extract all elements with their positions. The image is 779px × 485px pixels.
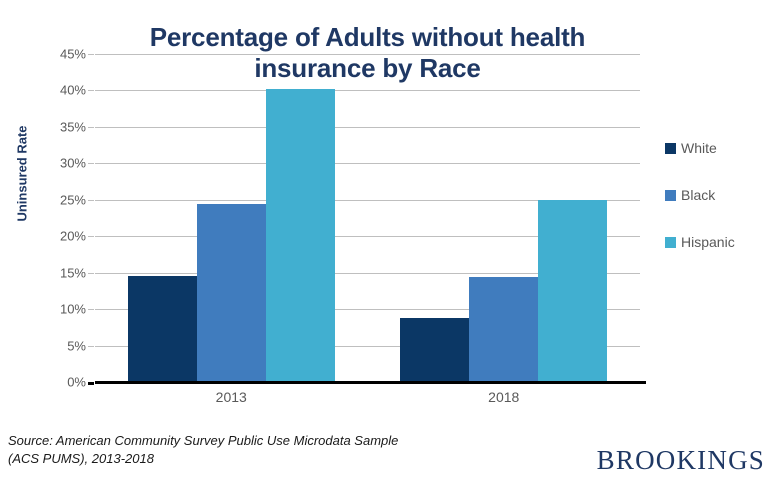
- x-axis-line: [95, 381, 646, 384]
- y-axis-tick-mark: [88, 346, 94, 347]
- legend-label-black: Black: [681, 187, 715, 203]
- y-axis-tick-label: 15%: [40, 265, 86, 280]
- chart-figure: Percentage of Adults without health insu…: [0, 0, 779, 485]
- source-note: Source: American Community Survey Public…: [8, 432, 528, 467]
- bar-black-2013[interactable]: [197, 204, 266, 382]
- legend-label-hispanic: Hispanic: [681, 234, 735, 250]
- bar-hispanic-2018[interactable]: [538, 200, 607, 382]
- gridline: [95, 163, 640, 164]
- y-axis-tick-mark: [88, 236, 94, 237]
- y-axis-tick-mark: [88, 54, 94, 55]
- y-axis-tick-mark: [88, 200, 94, 201]
- legend-swatch-white: [665, 143, 676, 154]
- gridline: [95, 90, 640, 91]
- y-axis-tick-label: 5%: [40, 338, 86, 353]
- y-axis-tick-label: 10%: [40, 302, 86, 317]
- legend-swatch-black: [665, 190, 676, 201]
- plot-area: [95, 54, 640, 382]
- x-axis-tick-label-2013: 2013: [95, 389, 368, 405]
- y-axis-tick-mark: [88, 273, 94, 274]
- y-axis-title: Uninsured Rate: [15, 104, 30, 244]
- source-note-line-2: (ACS PUMS), 2013-2018: [8, 451, 154, 466]
- y-axis-tick-mark: [88, 382, 94, 385]
- y-axis-tick-labels: 0%5%10%15%20%25%30%35%40%45%: [38, 54, 86, 382]
- y-axis-tick-mark: [88, 90, 94, 91]
- gridline: [95, 54, 640, 55]
- legend-item-black[interactable]: Black: [665, 187, 715, 203]
- y-axis-tick-label: 25%: [40, 192, 86, 207]
- y-axis-tick-label: 30%: [40, 156, 86, 171]
- bar-white-2018[interactable]: [400, 318, 469, 382]
- y-axis-tick-label: 45%: [40, 47, 86, 62]
- x-axis-tick-label-2018: 2018: [368, 389, 641, 405]
- legend-item-white[interactable]: White: [665, 140, 717, 156]
- chart-title-line-1: Percentage of Adults without health: [150, 22, 586, 52]
- y-axis-tick-mark: [88, 163, 94, 164]
- legend-swatch-hispanic: [665, 237, 676, 248]
- bar-white-2013[interactable]: [128, 276, 197, 382]
- source-note-line-1: Source: American Community Survey Public…: [8, 433, 398, 448]
- legend-label-white: White: [681, 140, 717, 156]
- y-axis-tick-label: 35%: [40, 119, 86, 134]
- y-axis-tick-mark: [88, 309, 94, 310]
- brookings-logo: BROOKINGS: [597, 445, 765, 476]
- bar-hispanic-2013[interactable]: [266, 89, 335, 382]
- y-axis-tick-mark: [88, 127, 94, 128]
- y-axis-tick-label: 20%: [40, 229, 86, 244]
- gridline: [95, 127, 640, 128]
- y-axis-tick-label: 0%: [40, 375, 86, 390]
- legend-item-hispanic[interactable]: Hispanic: [665, 234, 735, 250]
- y-axis-tick-label: 40%: [40, 83, 86, 98]
- bar-black-2018[interactable]: [469, 277, 538, 382]
